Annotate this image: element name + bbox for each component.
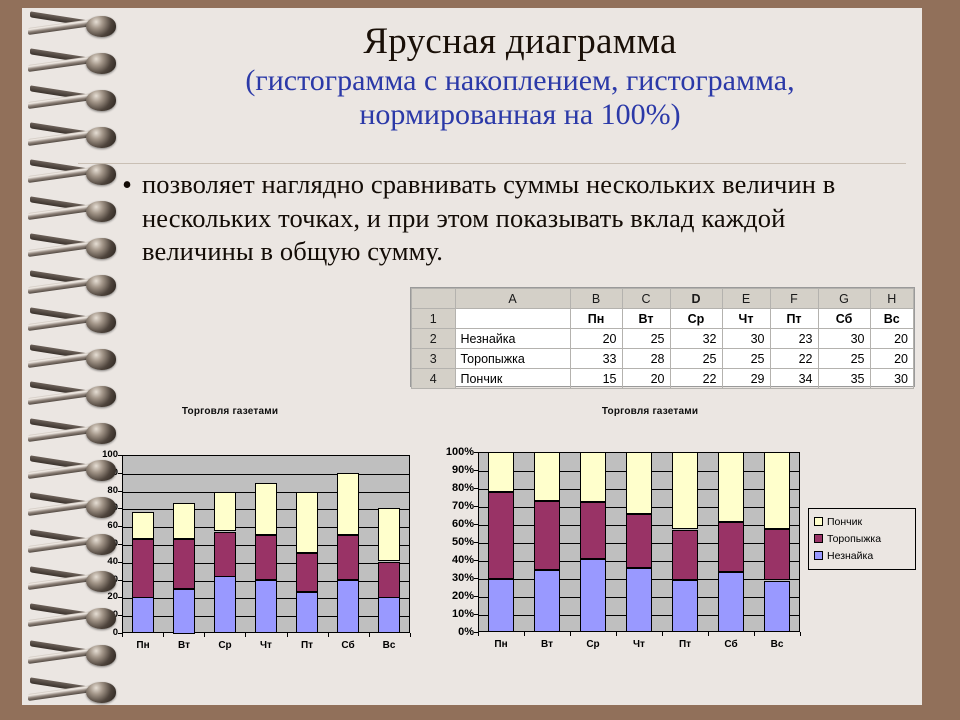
chart-x-tick-mark xyxy=(754,632,755,636)
row-header-1[interactable]: 1 xyxy=(412,309,456,329)
chart-bar-segment[interactable] xyxy=(378,508,400,561)
chart-bar-segment[interactable] xyxy=(764,452,790,529)
chart-y-axis-label: 60% xyxy=(438,519,474,529)
chart-y-tick-mark xyxy=(118,615,122,616)
chart-bar-segment[interactable] xyxy=(672,530,698,580)
chart-bar-segment[interactable] xyxy=(626,514,652,568)
column-header-B[interactable]: B xyxy=(570,289,622,309)
table-row: 3 Торопыжка 33 28 25 25 22 25 20 xyxy=(412,349,914,369)
chart-y-tick-mark xyxy=(118,544,122,545)
cell-F4[interactable]: 34 xyxy=(770,369,818,389)
cell-B2[interactable]: 20 xyxy=(570,329,622,349)
chart-y-axis-label: 60 xyxy=(94,521,118,531)
chart-x-tick-mark xyxy=(204,633,205,637)
chart-bar-segment[interactable] xyxy=(718,572,744,632)
chart-bar-segment[interactable] xyxy=(534,501,560,570)
chart-y-axis-label: 0 xyxy=(94,628,118,638)
chart-x-tick-mark xyxy=(369,633,370,637)
cell-A1[interactable] xyxy=(455,309,570,329)
cell-D1[interactable]: Ср xyxy=(670,309,722,329)
row-header-2[interactable]: 2 xyxy=(412,329,456,349)
legend-label: Пончик xyxy=(827,516,862,528)
chart-bar-segment[interactable] xyxy=(173,539,195,589)
chart-x-axis-label: Чт xyxy=(614,639,664,650)
chart-x-axis-label: Сб xyxy=(706,639,756,650)
chart-bar-segment[interactable] xyxy=(534,452,560,501)
cell-G2[interactable]: 30 xyxy=(818,329,870,349)
chart-bar-segment[interactable] xyxy=(296,492,318,553)
chart-y-tick-mark xyxy=(474,614,478,615)
chart-x-tick-mark xyxy=(570,632,571,636)
chart-y-axis-label: 10% xyxy=(438,609,474,619)
chart-bar-segment[interactable] xyxy=(173,503,195,539)
table-row: 2 Незнайка 20 25 32 30 23 30 20 xyxy=(412,329,914,349)
chart-x-axis-label: Пт xyxy=(660,639,710,650)
chart-y-axis-label: 20% xyxy=(438,591,474,601)
chart-y-tick-mark xyxy=(474,506,478,507)
row-header-4[interactable]: 4 xyxy=(412,369,456,389)
chart-y-axis-label: 10 xyxy=(94,610,118,620)
cell-C2[interactable]: 25 xyxy=(622,329,670,349)
chart-y-axis-label: 50% xyxy=(438,537,474,547)
cell-B4[interactable]: 15 xyxy=(570,369,622,389)
chart-bar-segment[interactable] xyxy=(173,589,195,634)
chart-bar-segment[interactable] xyxy=(488,579,514,632)
column-header-G[interactable]: G xyxy=(818,289,870,309)
chart-bar-segment[interactable] xyxy=(764,529,790,580)
column-header-E[interactable]: E xyxy=(722,289,770,309)
cell-B1[interactable]: Пн xyxy=(570,309,622,329)
slide: Ярусная диаграмма (гистограмма с накопле… xyxy=(0,0,960,720)
cell-E4[interactable]: 29 xyxy=(722,369,770,389)
chart-bar-segment[interactable] xyxy=(580,452,606,502)
chart-y-tick-mark xyxy=(118,455,122,456)
chart-legend: ПончикТоропыжкаНезнайка xyxy=(808,508,916,570)
table-row: 4 Пончик 15 20 22 29 34 35 30 xyxy=(412,369,914,389)
chart-y-tick-mark xyxy=(474,596,478,597)
legend-label: Незнайка xyxy=(827,550,873,562)
chart-y-tick-mark xyxy=(474,578,478,579)
chart-bar-segment[interactable] xyxy=(534,570,560,632)
legend-swatch-icon xyxy=(814,534,823,543)
chart-x-tick-mark xyxy=(245,633,246,637)
cell-D2[interactable]: 32 xyxy=(670,329,722,349)
chart-x-tick-mark xyxy=(708,632,709,636)
page-subtitle: (гистограмма с накоплением, гистограмма,… xyxy=(120,64,920,132)
chart-bar-segment[interactable] xyxy=(255,580,277,633)
chart-x-axis-label: Вс xyxy=(752,639,802,650)
chart-y-axis-label: 50 xyxy=(94,539,118,549)
chart-y-tick-mark xyxy=(118,491,122,492)
chart-bar-segment[interactable] xyxy=(214,532,236,577)
cell-E1[interactable]: Чт xyxy=(722,309,770,329)
chart-x-axis-label: Вт xyxy=(522,639,572,650)
chart-y-axis-label: 0% xyxy=(438,627,474,637)
chart-bar-segment[interactable] xyxy=(255,483,277,535)
chart-x-axis-label: Пн xyxy=(476,639,526,650)
cell-D4[interactable]: 22 xyxy=(670,369,722,389)
chart-x-tick-mark xyxy=(328,633,329,637)
cell-B3[interactable]: 33 xyxy=(570,349,622,369)
chart-title-absolute: Торговля газетами xyxy=(150,406,310,417)
chart-y-axis-label: 90 xyxy=(94,468,118,478)
legend-swatch-icon xyxy=(814,551,823,560)
spreadsheet-corner-cell[interactable] xyxy=(412,289,456,309)
chart-y-tick-mark xyxy=(474,524,478,525)
cell-A4[interactable]: Пончик xyxy=(455,369,570,389)
bullet-item: • позволяет наглядно сравнивать суммы не… xyxy=(112,168,872,269)
chart-bar-segment[interactable] xyxy=(764,581,790,632)
cell-D3[interactable]: 25 xyxy=(670,349,722,369)
chart-y-tick-mark xyxy=(474,560,478,561)
chart-y-axis-label: 90% xyxy=(438,465,474,475)
chart-bar-segment[interactable] xyxy=(718,522,744,572)
chart-bar-segment[interactable] xyxy=(488,492,514,579)
chart-bar-segment[interactable] xyxy=(488,452,514,492)
chart-gridline xyxy=(123,474,409,475)
chart-y-tick-mark xyxy=(118,580,122,581)
cell-E3[interactable]: 25 xyxy=(722,349,770,369)
chart-y-tick-mark xyxy=(118,473,122,474)
chart-x-tick-mark xyxy=(800,632,801,636)
cell-H4[interactable]: 30 xyxy=(870,369,914,389)
chart-bar-segment[interactable] xyxy=(378,597,400,633)
table-row: 1 Пн Вт Ср Чт Пт Сб Вс xyxy=(412,309,914,329)
cell-G1[interactable]: Сб xyxy=(818,309,870,329)
cell-E2[interactable]: 30 xyxy=(722,329,770,349)
chart-bar-segment[interactable] xyxy=(337,473,359,535)
chart-bar-segment[interactable] xyxy=(214,492,236,531)
chart-bar-segment[interactable] xyxy=(672,452,698,529)
chart-x-tick-mark xyxy=(122,633,123,637)
bullet-text: позволяет наглядно сравнивать суммы неск… xyxy=(142,168,872,269)
chart-x-axis-label: Ср xyxy=(568,639,618,650)
chart-y-tick-mark xyxy=(118,562,122,563)
chart-bar-segment[interactable] xyxy=(132,539,154,598)
chart-x-tick-mark xyxy=(478,632,479,636)
chart-y-axis-label: 70% xyxy=(438,501,474,511)
column-header-C[interactable]: C xyxy=(622,289,670,309)
chart-y-tick-mark xyxy=(118,508,122,509)
bullet-marker-icon: • xyxy=(112,168,142,204)
legend-item: Пончик xyxy=(814,513,911,530)
page-title: Ярусная диаграмма xyxy=(120,22,920,61)
chart-bar-segment[interactable] xyxy=(255,535,277,580)
chart-bar-segment[interactable] xyxy=(626,452,652,514)
chart-bar-segment[interactable] xyxy=(626,568,652,632)
cell-F2[interactable]: 23 xyxy=(770,329,818,349)
legend-item: Торопыжка xyxy=(814,530,911,547)
legend-label: Торопыжка xyxy=(827,533,881,545)
spreadsheet-table[interactable]: A B C D E F G H 1 Пн Вт Ср Чт Пт Сб Вс xyxy=(410,287,915,387)
legend-item: Незнайка xyxy=(814,547,911,564)
chart-x-tick-mark xyxy=(616,632,617,636)
chart-y-tick-mark xyxy=(474,542,478,543)
column-header-A[interactable]: A xyxy=(455,289,570,309)
chart-x-tick-mark xyxy=(524,632,525,636)
column-header-D[interactable]: D xyxy=(670,289,722,309)
chart-y-axis-label: 100 xyxy=(94,450,118,460)
cell-H1[interactable]: Вс xyxy=(870,309,914,329)
spreadsheet-grid: A B C D E F G H 1 Пн Вт Ср Чт Пт Сб Вс xyxy=(411,288,914,389)
chart-y-axis-label: 80% xyxy=(438,483,474,493)
chart-bar-segment[interactable] xyxy=(296,592,318,633)
chart-bar-segment[interactable] xyxy=(132,512,154,539)
chart-y-axis-label: 20 xyxy=(94,592,118,602)
title-divider xyxy=(78,163,906,164)
chart-y-axis-label: 30% xyxy=(438,573,474,583)
chart-y-tick-mark xyxy=(118,597,122,598)
chart-bar-segment[interactable] xyxy=(214,576,236,633)
page-subtitle-line1: (гистограмма с накоплением, гистограмма, xyxy=(120,64,920,98)
chart-bar-segment[interactable] xyxy=(378,562,400,598)
cell-F3[interactable]: 22 xyxy=(770,349,818,369)
chart-x-tick-mark xyxy=(662,632,663,636)
chart-bar-segment[interactable] xyxy=(337,535,359,580)
chart-bar-segment[interactable] xyxy=(672,580,698,632)
spreadsheet-column-header-row: A B C D E F G H xyxy=(412,289,914,309)
column-header-H[interactable]: H xyxy=(870,289,914,309)
chart-y-tick-mark xyxy=(118,526,122,527)
cell-G4[interactable]: 35 xyxy=(818,369,870,389)
page-subtitle-line2: нормированная на 100%) xyxy=(120,98,920,132)
chart-y-axis-label: 70 xyxy=(94,503,118,513)
chart-bar-segment[interactable] xyxy=(132,597,154,633)
chart-x-axis-label: Вс xyxy=(364,640,414,651)
chart-bar-segment[interactable] xyxy=(296,553,318,592)
chart-y-axis-label: 100% xyxy=(438,447,474,457)
chart-y-axis-label: 30 xyxy=(94,575,118,585)
cell-G3[interactable]: 25 xyxy=(818,349,870,369)
chart-y-tick-mark xyxy=(474,452,478,453)
chart-bar-segment[interactable] xyxy=(718,452,744,522)
column-header-F[interactable]: F xyxy=(770,289,818,309)
cell-C1[interactable]: Вт xyxy=(622,309,670,329)
cell-C3[interactable]: 28 xyxy=(622,349,670,369)
chart-y-tick-mark xyxy=(474,470,478,471)
chart-bar-segment[interactable] xyxy=(337,580,359,633)
chart-y-axis-label: 80 xyxy=(94,486,118,496)
chart-bar-segment[interactable] xyxy=(580,502,606,559)
chart-bar-segment[interactable] xyxy=(580,559,606,632)
cell-H3[interactable]: 20 xyxy=(870,349,914,369)
cell-A2[interactable]: Незнайка xyxy=(455,329,570,349)
chart-y-tick-mark xyxy=(474,488,478,489)
chart-x-tick-mark xyxy=(287,633,288,637)
chart-x-tick-mark xyxy=(410,633,411,637)
cell-F1[interactable]: Пт xyxy=(770,309,818,329)
row-header-3[interactable]: 3 xyxy=(412,349,456,369)
cell-A3[interactable]: Торопыжка xyxy=(455,349,570,369)
title-block: Ярусная диаграмма (гистограмма с накопле… xyxy=(120,22,920,132)
chart-y-axis-label: 40 xyxy=(94,557,118,567)
cell-C4[interactable]: 20 xyxy=(622,369,670,389)
chart-x-tick-mark xyxy=(163,633,164,637)
chart-title-percent: Торговля газетами xyxy=(505,406,795,417)
legend-swatch-icon xyxy=(814,517,823,526)
cell-H2[interactable]: 20 xyxy=(870,329,914,349)
chart-y-axis-label: 40% xyxy=(438,555,474,565)
